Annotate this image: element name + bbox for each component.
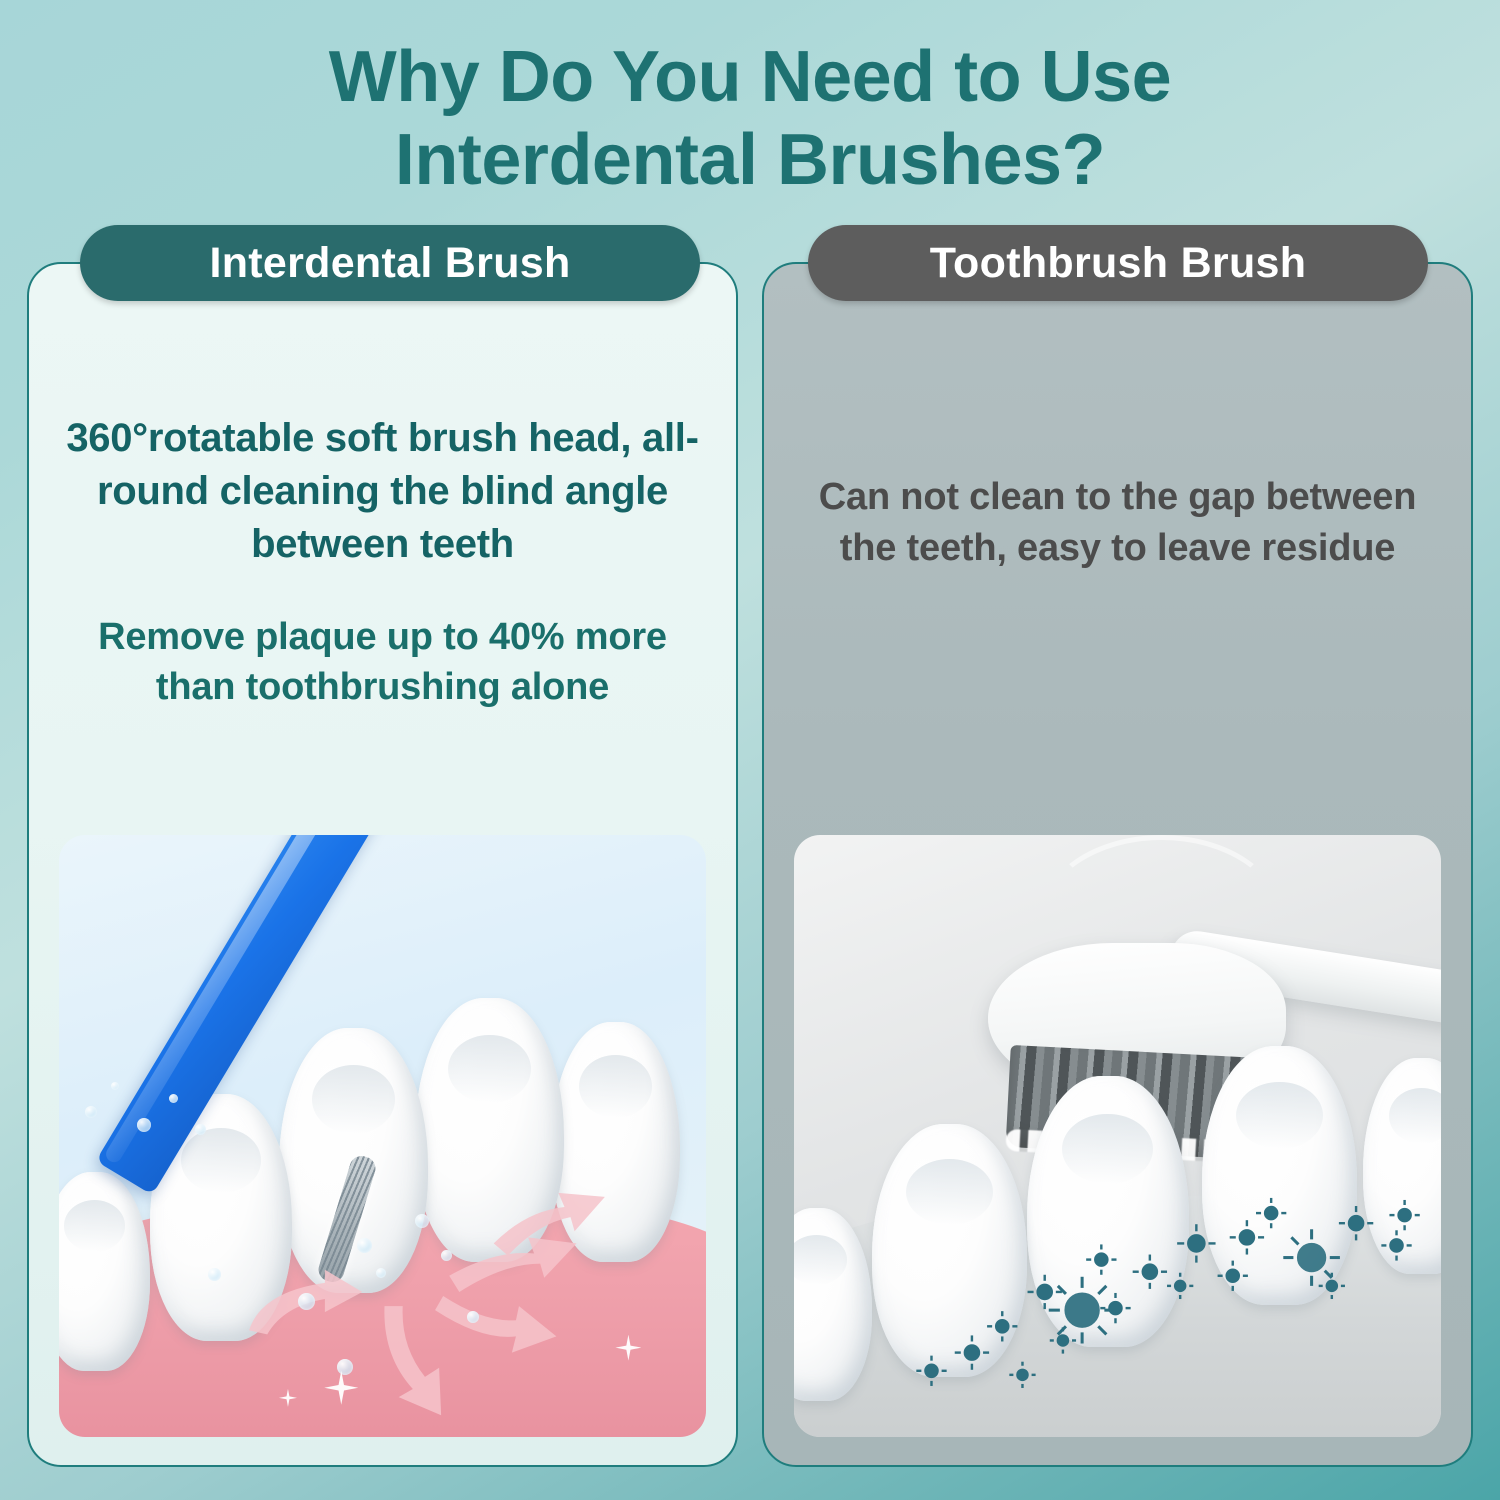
arrow-down-right [435, 1296, 556, 1353]
water-bubble [298, 1293, 315, 1310]
toothbrush-scene [794, 835, 1441, 1437]
toothbrush-paragraph-1: Can not clean to the gap between the tee… [800, 472, 1435, 573]
toothbrush-pill: Toothbrush Brush [808, 225, 1428, 301]
toothbrush-copy: Can not clean to the gap between the tee… [764, 472, 1471, 573]
page-title-line-1: Why Do You Need to Use [0, 36, 1500, 119]
interdental-brush-pill: Interdental Brush [80, 225, 700, 301]
comparison-infographic: Why Do You Need to Use Interdental Brush… [0, 0, 1500, 1500]
water-bubble [195, 1124, 206, 1135]
water-bubble [85, 1106, 97, 1118]
water-bubble [357, 1238, 372, 1253]
water-bubble [415, 1214, 429, 1228]
germ-small [916, 1198, 1419, 1388]
interdental-brush-illustration [59, 835, 706, 1437]
page-title: Why Do You Need to Use Interdental Brush… [0, 36, 1500, 202]
toothbrush-illustration [794, 835, 1441, 1437]
water-bubble [169, 1094, 178, 1103]
interdental-brush-card: 360°rotatable soft brush head, all-round… [27, 262, 738, 1467]
water-bubble [111, 1082, 119, 1090]
arrow-down-left [384, 1306, 441, 1415]
interdental-brush-copy: 360°rotatable soft brush head, all-round… [29, 412, 736, 713]
water-bubble [467, 1311, 479, 1323]
toothbrush-pill-label: Toothbrush Brush [930, 239, 1307, 288]
interdental-scene [59, 835, 706, 1437]
interdental-brush-paragraph-1: 360°rotatable soft brush head, all-round… [65, 412, 700, 572]
water-bubble [337, 1359, 353, 1375]
bacteria-cluster [794, 835, 1441, 1437]
comparison-columns: 360°rotatable soft brush head, all-round… [27, 262, 1473, 1467]
page-title-line-2: Interdental Brushes? [0, 119, 1500, 202]
cleaning-arrows [59, 835, 706, 1437]
interdental-brush-paragraph-2: Remove plaque up to 40% more than toothb… [65, 612, 700, 713]
interdental-brush-pill-label: Interdental Brush [209, 239, 570, 288]
germ-large [1049, 1277, 1116, 1344]
germ-large [1283, 1229, 1340, 1286]
toothbrush-card: Can not clean to the gap between the tee… [762, 262, 1473, 1467]
water-bubble [137, 1118, 151, 1132]
